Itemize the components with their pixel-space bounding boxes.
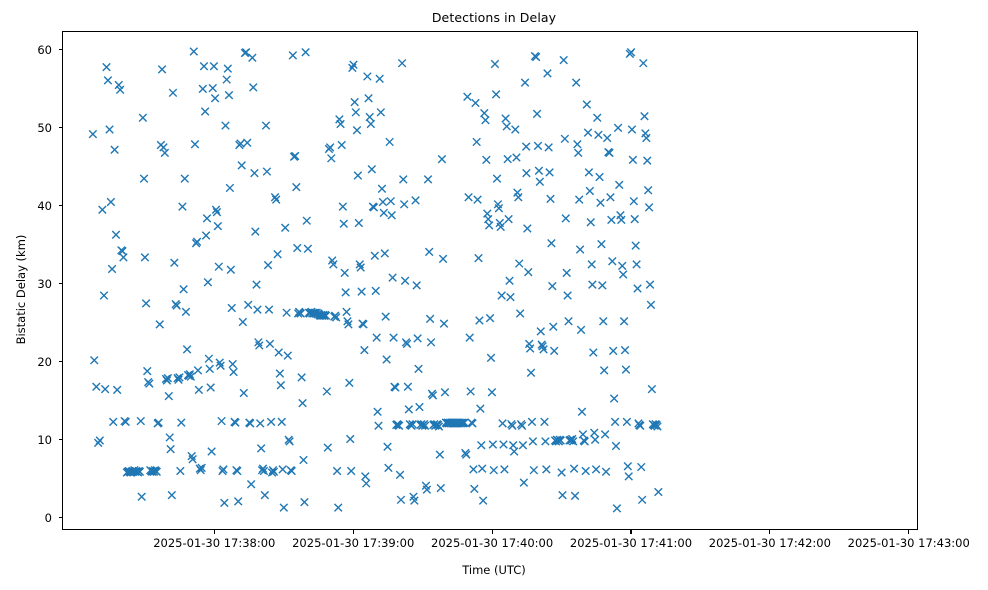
- scatter-point: [535, 167, 543, 175]
- scatter-point: [249, 54, 257, 62]
- scatter-point: [414, 335, 422, 343]
- scatter-point: [137, 417, 145, 425]
- scatter-point: [427, 339, 435, 347]
- scatter-point: [142, 300, 150, 308]
- scatter-point: [226, 184, 234, 192]
- scatter-point: [561, 135, 569, 143]
- scatter-point: [384, 443, 392, 451]
- scatter-point: [254, 306, 262, 314]
- scatter-point: [559, 491, 567, 499]
- scatter-point: [183, 346, 191, 354]
- scatter-point: [570, 465, 577, 473]
- scatter-point: [558, 469, 566, 477]
- scatter-point: [354, 172, 362, 180]
- scatter-point: [549, 282, 557, 290]
- scatter-point: [179, 203, 187, 211]
- scatter-point: [168, 491, 176, 499]
- scatter-point: [439, 255, 447, 263]
- scatter-point: [625, 473, 633, 481]
- x-axis-tick-label: 2025-01-30 17:38:00: [153, 536, 275, 550]
- scatter-point: [368, 165, 376, 173]
- scatter-point: [437, 484, 445, 492]
- scatter-point: [563, 269, 571, 277]
- scatter-point: [224, 65, 232, 73]
- scatter-point: [385, 464, 393, 472]
- scatter-point: [643, 157, 651, 165]
- scatter-point: [347, 435, 355, 443]
- scatter-point: [96, 437, 104, 445]
- scatter-point: [144, 367, 152, 375]
- scatter-point: [284, 352, 292, 360]
- scatter-point: [383, 356, 391, 364]
- scatter-point: [278, 418, 286, 426]
- scatter-point: [622, 366, 630, 374]
- scatter-point: [599, 282, 607, 290]
- scatter-point: [238, 162, 246, 170]
- scatter-point: [257, 445, 265, 453]
- scatter-point: [280, 504, 288, 512]
- scatter-point: [641, 112, 649, 120]
- scatter-point: [547, 195, 555, 203]
- scatter-point: [474, 196, 482, 204]
- scatter-point: [465, 194, 473, 202]
- scatter-point: [210, 63, 218, 71]
- scatter-point: [471, 485, 479, 493]
- scatter-point: [536, 178, 544, 186]
- scatter-point: [562, 215, 570, 223]
- scatter-point: [501, 466, 509, 474]
- scatter-point: [571, 492, 578, 500]
- scatter-point: [372, 287, 380, 295]
- scatter-point: [503, 123, 511, 131]
- scatter-point: [614, 124, 622, 132]
- scatter-point: [225, 91, 233, 99]
- scatter-point: [640, 59, 648, 67]
- scatter-point: [111, 146, 119, 154]
- scatter-point: [177, 467, 185, 475]
- scatter-point: [338, 141, 346, 149]
- scatter-point: [206, 365, 214, 373]
- scatter-point: [608, 216, 616, 224]
- scatter-point: [377, 109, 385, 117]
- scatter-point: [519, 441, 527, 449]
- scatter-point: [299, 399, 307, 407]
- scatter-point: [620, 318, 628, 326]
- scatter-point: [378, 185, 386, 193]
- scatter-point: [362, 480, 370, 488]
- scatter-point: [613, 505, 621, 512]
- scatter-point: [481, 109, 489, 117]
- scatter-point: [485, 222, 493, 230]
- scatter-point: [473, 138, 481, 146]
- scatter-point: [262, 122, 270, 130]
- scatter-point: [281, 224, 289, 232]
- scatter-point: [440, 320, 448, 328]
- scatter-point: [301, 498, 309, 506]
- scatter-point: [590, 429, 598, 437]
- scatter-point: [303, 217, 311, 225]
- scatter-point: [167, 445, 175, 453]
- scatter-point: [222, 122, 230, 130]
- scatter-point: [339, 203, 347, 211]
- scatter-series-detections: [63, 32, 918, 530]
- scatter-point: [537, 328, 545, 336]
- scatter-point: [499, 420, 507, 428]
- scatter-point: [542, 438, 550, 446]
- scatter-point: [204, 279, 212, 287]
- scatter-point: [489, 441, 497, 449]
- scatter-point: [607, 194, 615, 202]
- scatter-point: [592, 466, 600, 474]
- scatter-point: [181, 175, 189, 183]
- scatter-point: [263, 168, 271, 176]
- page-title: Detections in Delay: [0, 10, 988, 25]
- scatter-point: [178, 419, 186, 427]
- scatter-point: [90, 356, 98, 364]
- scatter-point: [389, 274, 397, 282]
- scatter-point: [464, 93, 472, 101]
- scatter-point: [476, 317, 484, 325]
- y-axis-tick-label: 0: [8, 511, 52, 525]
- scatter-point: [283, 309, 291, 317]
- scatter-point: [386, 138, 394, 146]
- scatter-point: [109, 418, 117, 426]
- scatter-point: [576, 246, 584, 254]
- scatter-point: [541, 418, 549, 426]
- scatter-point: [340, 220, 348, 228]
- scatter-point: [341, 269, 349, 277]
- scatter-point: [638, 496, 646, 504]
- scatter-point: [472, 99, 480, 107]
- scatter-point: [293, 183, 301, 191]
- scatter-point: [194, 367, 202, 375]
- y-axis-tick-label: 40: [8, 199, 52, 213]
- scatter-point: [521, 79, 529, 87]
- scatter-point: [490, 466, 498, 474]
- scatter-point: [275, 349, 283, 357]
- scatter-point: [586, 187, 594, 195]
- scatter-point: [522, 143, 530, 151]
- scatter-point: [587, 218, 595, 226]
- scatter-point: [412, 197, 420, 205]
- scatter-point: [504, 155, 512, 163]
- scatter-point: [516, 310, 524, 318]
- scatter-point: [294, 244, 302, 252]
- scatter-point: [89, 130, 97, 138]
- scatter-point: [612, 442, 620, 450]
- scatter-point: [546, 169, 554, 177]
- y-axis-tick-label: 10: [8, 433, 52, 447]
- scatter-point: [300, 456, 308, 464]
- scatter-point: [545, 144, 553, 152]
- scatter-point: [274, 250, 282, 258]
- scatter-point: [578, 408, 586, 416]
- scatter-point: [398, 59, 406, 67]
- scatter-point: [362, 473, 370, 481]
- scatter-point: [107, 198, 115, 206]
- scatter-point: [120, 254, 128, 262]
- scatter-point: [328, 155, 336, 163]
- scatter-point: [506, 277, 514, 285]
- scatter-point: [577, 326, 585, 334]
- scatter-point: [158, 66, 166, 74]
- scatter-point: [298, 374, 306, 382]
- scatter-point: [405, 406, 413, 414]
- scatter-point: [180, 286, 188, 294]
- plot-area: [62, 31, 918, 530]
- scatter-point: [401, 277, 409, 285]
- scatter-point: [618, 216, 626, 224]
- scatter-point: [588, 261, 596, 269]
- scatter-point: [221, 499, 229, 507]
- scatter-point: [520, 479, 528, 487]
- x-axis-tick-label: 2025-01-30 17:41:00: [570, 536, 692, 550]
- scatter-point: [264, 261, 272, 269]
- scatter-point: [609, 257, 617, 265]
- scatter-point: [203, 215, 211, 223]
- scatter-point: [227, 266, 235, 274]
- x-axis-label: Time (UTC): [0, 563, 988, 577]
- scatter-point: [524, 225, 532, 233]
- scatter-point: [140, 175, 148, 183]
- scatter-point: [623, 418, 631, 426]
- scatter-point: [477, 405, 485, 413]
- scatter-point: [169, 89, 177, 97]
- y-axis-tick-label: 60: [8, 43, 52, 57]
- scatter-point: [347, 467, 355, 475]
- scatter-point: [510, 448, 518, 456]
- scatter-point: [610, 395, 618, 403]
- scatter-point: [380, 209, 388, 217]
- scatter-point: [229, 360, 237, 368]
- scatter-point: [498, 292, 506, 300]
- scatter-point: [603, 134, 611, 142]
- scatter-point: [353, 126, 361, 134]
- scatter-point: [223, 76, 231, 84]
- scatter-point: [582, 467, 590, 475]
- scatter-point: [643, 134, 651, 142]
- scatter-point: [415, 365, 423, 373]
- scatter-point: [365, 95, 373, 103]
- scatter-point: [645, 204, 653, 212]
- scatter-point: [628, 126, 636, 134]
- scatter-point: [486, 314, 494, 322]
- scatter-point: [611, 418, 619, 426]
- scatter-point: [279, 466, 287, 474]
- scatter-point: [478, 465, 486, 473]
- scatter-point: [156, 321, 164, 329]
- scatter-point: [530, 466, 538, 474]
- scatter-point: [575, 196, 583, 204]
- scatter-point: [374, 408, 382, 416]
- scatter-point: [343, 308, 351, 316]
- scatter-point: [100, 292, 108, 300]
- scatter-point: [600, 367, 608, 375]
- scatter-point: [256, 420, 264, 428]
- scatter-point: [647, 301, 655, 309]
- scatter-point: [634, 285, 642, 293]
- x-axis-tick-label: 2025-01-30 17:40:00: [431, 536, 553, 550]
- x-axis-tick-mark: [630, 530, 631, 534]
- scatter-point: [342, 289, 350, 297]
- scatter-point: [633, 261, 641, 269]
- scatter-point: [367, 120, 375, 128]
- scatter-point: [214, 222, 222, 230]
- scatter-point: [526, 345, 534, 353]
- scatter-point: [265, 306, 273, 314]
- scatter-point: [211, 95, 219, 103]
- scatter-point: [602, 468, 610, 476]
- scatter-point: [209, 84, 217, 92]
- figure-canvas: Detections in Delay Bistatic Delay (km) …: [0, 0, 988, 590]
- scatter-point: [655, 488, 663, 496]
- scatter-point: [583, 101, 591, 109]
- scatter-point: [597, 199, 605, 207]
- scatter-point: [529, 438, 537, 446]
- scatter-point: [358, 288, 366, 296]
- scatter-point: [574, 141, 582, 149]
- scatter-point: [388, 211, 396, 219]
- scatter-point: [361, 346, 369, 354]
- scatter-point: [475, 254, 483, 262]
- scatter-point: [644, 187, 652, 195]
- scatter-point: [525, 268, 533, 276]
- scatter-point: [371, 252, 379, 260]
- scatter-point: [302, 49, 310, 57]
- scatter-point: [438, 155, 446, 163]
- x-axis-tick-mark: [214, 530, 215, 534]
- scatter-point: [584, 129, 592, 137]
- scatter-point: [191, 141, 199, 149]
- scatter-point: [103, 63, 111, 71]
- scatter-point: [244, 139, 252, 147]
- scatter-point: [424, 176, 432, 184]
- scatter-point: [400, 176, 408, 184]
- scatter-point: [482, 116, 490, 124]
- scatter-point: [523, 169, 531, 177]
- scatter-point: [441, 388, 449, 396]
- scatter-point: [387, 197, 395, 205]
- scatter-point: [396, 471, 404, 479]
- scatter-point: [505, 215, 513, 223]
- x-axis-tick-mark: [769, 530, 770, 534]
- scatter-point: [234, 498, 242, 506]
- scatter-point: [572, 79, 580, 87]
- scatter-point: [550, 347, 558, 355]
- scatter-point: [493, 175, 501, 183]
- scatter-point: [139, 114, 147, 122]
- scatter-point: [560, 56, 568, 64]
- scatter-point: [527, 369, 535, 377]
- scatter-point: [108, 265, 116, 273]
- scatter-point: [250, 84, 258, 92]
- scatter-point: [93, 383, 101, 391]
- scatter-point: [165, 392, 173, 400]
- y-axis-tick-label: 20: [8, 355, 52, 369]
- scatter-point: [351, 98, 359, 106]
- scatter-point: [190, 48, 198, 56]
- scatter-point: [515, 194, 523, 202]
- scatter-point: [289, 52, 297, 60]
- scatter-point: [492, 91, 500, 99]
- x-axis-tick-mark: [353, 530, 354, 534]
- scatter-point: [381, 250, 389, 258]
- scatter-point: [253, 281, 261, 289]
- scatter-point: [201, 108, 209, 116]
- x-axis-tick-label: 2025-01-30 17:42:00: [709, 536, 831, 550]
- scatter-point: [478, 441, 486, 449]
- scatter-point: [609, 347, 617, 355]
- scatter-point: [436, 451, 444, 459]
- scatter-point: [648, 385, 656, 393]
- scatter-point: [397, 496, 405, 504]
- scatter-point: [513, 154, 521, 162]
- scatter-point: [334, 504, 342, 512]
- scatter-point: [138, 493, 146, 501]
- scatter-point: [182, 308, 190, 316]
- scatter-point: [244, 301, 252, 309]
- scatter-point: [416, 403, 424, 411]
- scatter-point: [575, 149, 583, 157]
- scatter-point: [487, 354, 495, 362]
- scatter-point: [470, 466, 478, 474]
- scatter-point: [543, 466, 551, 474]
- y-axis-tick-label: 50: [8, 121, 52, 135]
- scatter-point: [200, 63, 208, 71]
- scatter-point: [267, 418, 275, 426]
- scatter-point: [598, 240, 606, 248]
- scatter-point: [585, 169, 593, 177]
- scatter-point: [333, 467, 341, 475]
- scatter-point: [479, 497, 487, 505]
- scatter-point: [615, 181, 623, 189]
- scatter-point: [205, 355, 213, 363]
- scatter-point: [376, 75, 384, 83]
- scatter-point: [621, 346, 629, 354]
- scatter-point: [590, 349, 598, 357]
- scatter-point: [228, 304, 236, 312]
- scatter-point: [601, 431, 609, 439]
- x-axis-tick-mark: [908, 530, 909, 534]
- scatter-point: [215, 263, 223, 271]
- scatter-point: [382, 313, 390, 321]
- scatter-point: [534, 142, 542, 150]
- scatter-point: [276, 370, 284, 378]
- scatter-point: [413, 282, 421, 290]
- scatter-point: [404, 383, 412, 391]
- scatter-point: [324, 444, 332, 452]
- scatter-point: [375, 422, 383, 430]
- scatter-point: [239, 318, 247, 326]
- scatter-point: [171, 259, 179, 267]
- scatter-point: [624, 463, 632, 471]
- scatter-point: [400, 201, 408, 209]
- scatter-point: [160, 144, 168, 152]
- y-axis-tick-label: 30: [8, 277, 52, 291]
- scatter-point: [355, 219, 363, 227]
- scatter-point: [629, 156, 637, 164]
- scatter-point: [240, 389, 248, 397]
- scatter-point: [251, 169, 258, 177]
- scatter-point: [618, 262, 626, 270]
- scatter-point: [207, 384, 215, 392]
- scatter-point: [141, 254, 149, 262]
- scatter-point: [366, 113, 374, 121]
- scatter-point: [277, 381, 285, 389]
- scatter-point: [261, 491, 269, 499]
- scatter-point: [502, 115, 510, 123]
- scatter-point: [528, 418, 536, 426]
